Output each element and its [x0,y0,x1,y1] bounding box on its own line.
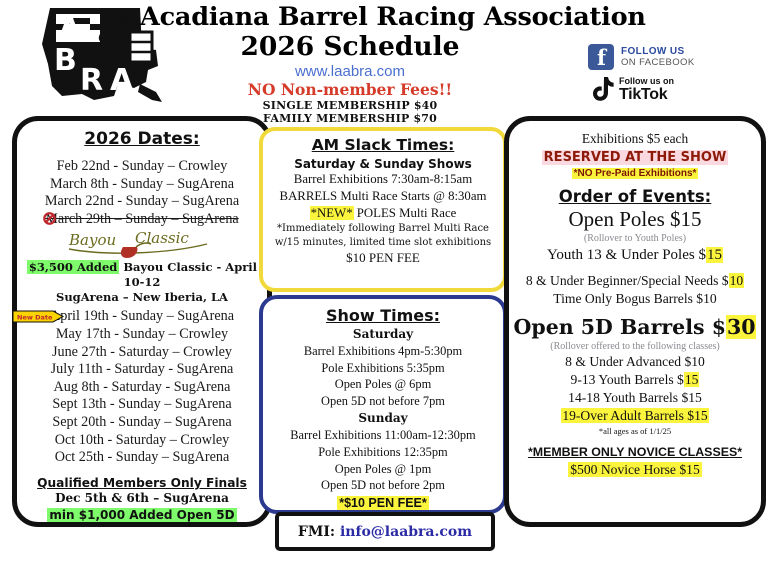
fmi-text: FMI: info@laabra.com [298,524,472,540]
bogus-barrels-row: Time Only Bogus Barrels $10 [509,290,761,308]
dates-list-early: Feb 22nd - Sunday – Crowley March 8th - … [17,158,267,228]
list-item-label: March 29th – Sunday – SugArena [45,211,238,227]
no-nonmember-fees: NO Non-member Fees!! [140,81,560,99]
youth-9-13-label: 9-13 Youth Barrels $ [571,372,684,387]
header: A B R A Acadiana [0,0,768,118]
finals-added-label: min $1,000 Added Open 5D [47,508,236,522]
new-date-arrow-badge: New Date [13,310,65,323]
am-slack-line-1: Barrel Exhibitions 7:30am-8:15am [263,171,503,188]
list-item: March 8th - Sunday – SugArena [17,176,267,194]
prohibited-icon [43,212,56,225]
schedule-title: 2026 Schedule [140,32,560,62]
youth-poles-label: Youth 13 & Under Poles $ [547,247,706,263]
open-5d-barrels-row: Open 5D Barrels $30 [509,314,761,340]
open-5d-note: (Rollover offered to the following class… [509,340,761,353]
dates-heading: 2026 Dates: [17,129,267,149]
website-url[interactable]: www.laabra.com [140,63,560,81]
list-item: Sept 13th - Sunday – SugArena [17,396,267,414]
beginner-label: 8 & Under Beginner/Special Needs $ [526,273,729,288]
facebook-icon [588,44,614,70]
youth-14-18-row: 14-18 Youth Barrels $15 [509,389,761,407]
list-item: Aug 8th - Saturday - SugArena [17,379,267,397]
list-item: Pole Exhibitions 12:35pm [263,444,503,461]
svg-text:Classic: Classic [135,230,189,247]
no-prepaid-exhibitions: *NO Pre-Paid Exhibitions* [509,167,761,181]
facebook-link[interactable]: FOLLOW US ON FACEBOOK [588,44,758,70]
flyer-page: A B R A Acadiana [0,0,768,574]
list-item: Pole Exhibitions 5:35pm [263,360,503,377]
open-5d-label: Open 5D Barrels $ [514,315,726,339]
am-slack-note-1: *Immediately following Barrel Multi Race [263,222,503,236]
tiktok-link[interactable]: Follow us on TikTok [588,75,758,103]
list-item: Open Poles @ 1pm [263,461,503,478]
list-item: May 17th - Sunday – Crowley [17,326,267,344]
exhibitions-price: Exhibitions $5 each [509,130,761,147]
order-of-events-heading: Order of Events: [509,187,761,206]
youth-poles-row: Youth 13 & Under Poles $15 [509,245,761,265]
list-item: Open 5D not before 7pm [263,393,503,410]
youth-9-13-price: 15 [684,372,700,387]
am-slack-note-2: w/15 minutes, limited time slot exhibiti… [263,236,503,250]
list-item: Sept 20th - Sunday – SugArena [17,414,267,432]
dates-panel: 2026 Dates: Feb 22nd - Sunday – Crowley … [12,116,272,527]
contact-email[interactable]: info@laabra.com [340,524,472,540]
bayou-classic-line: $3,500 Added Bayou Classic - April 10-12 [17,260,267,290]
novice-horse-label: $500 Novice Horse $15 [568,462,702,477]
facebook-label-1: FOLLOW US [621,46,695,57]
ages-note: *all ages as of 1/1/25 [509,425,761,437]
list-item: Oct 10th - Saturday – Crowley [17,432,267,450]
list-item: July 11th - Saturday - SugArena [17,361,267,379]
am-slack-pen-fee: $10 PEN FEE [263,250,503,266]
show-times-heading: Show Times: [263,306,503,325]
reserved-at-show: RESERVED AT THE SHOW [509,149,761,166]
beginner-row: 8 & Under Beginner/Special Needs $10 [509,272,761,290]
am-slack-heading: AM Slack Times: [263,136,503,154]
open-poles-price: Open Poles $15 [509,206,761,232]
tiktok-label-2: TikTok [619,86,674,103]
am-slack-panel: AM Slack Times: Saturday & Sunday Shows … [259,127,507,292]
am-slack-line-3: *NEW* POLES Multi Race [263,205,503,222]
tiktok-label-1: Follow us on [619,76,674,86]
finals-added: min $1,000 Added Open 5D [17,507,267,523]
list-item: June 27th - Saturday – Crowley [17,344,267,362]
am-slack-subheading: Saturday & Sunday Shows [263,157,503,171]
org-title: Acadiana Barrel Racing Association [140,2,560,32]
advanced-row: 8 & Under Advanced $10 [509,353,761,371]
list-item: Oct 25th - Sunday – SugArena [17,449,267,467]
social-links: FOLLOW US ON FACEBOOK Follow us on TikTo… [588,44,758,103]
bayou-classic-logo: Bayou Classic [17,230,267,260]
list-item: Feb 22nd - Sunday – Crowley [17,158,267,176]
adult-19-over-row: 19-Over Adult Barrels $15 [509,407,761,425]
list-item: Barrel Exhibitions 11:00am-12:30pm [263,427,503,444]
facebook-label-2: ON FACEBOOK [621,57,695,68]
list-item: Open 5D not before 2pm [263,477,503,494]
title-block: Acadiana Barrel Racing Association 2026 … [140,2,560,125]
svg-text:R: R [80,63,103,98]
new-tag: *NEW* [310,206,354,220]
list-item: March 22nd - Sunday – SugArena [17,193,267,211]
youth-9-13-row: 9-13 Youth Barrels $15 [509,371,761,389]
fmi-footer: FMI: info@laabra.com [275,512,495,551]
tiktok-icon [588,75,614,103]
show-times-panel: Show Times: Saturday Barrel Exhibitions … [259,295,507,514]
show-times-pen-fee-label: *$10 PEN FEE* [337,496,429,510]
fmi-label: FMI: [298,524,335,540]
am-slack-line-2: BARRELS Multi Race Starts @ 8:30am [263,188,503,205]
open-poles-note: (Rollover to Youth Poles) [509,232,761,245]
show-times-pen-fee: *$10 PEN FEE* [263,495,503,511]
single-membership: SINGLE MEMBERSHIP $40 [140,99,560,112]
saturday-label: Saturday [263,325,503,343]
bayou-event-label: Bayou Classic - April 10-12 [123,260,257,289]
list-item: Open Poles @ 6pm [263,376,503,393]
svg-text:B: B [54,43,77,78]
order-of-events-panel: Exhibitions $5 each RESERVED AT THE SHOW… [504,116,766,527]
finals-heading: Qualified Members Only Finals [17,476,267,490]
beginner-price: 10 [729,273,745,288]
svg-text:Bayou: Bayou [68,231,116,249]
novice-horse-row: $500 Novice Horse $15 [509,461,761,479]
no-prepaid-label: *NO Pre-Paid Exhibitions* [572,168,699,179]
bayou-location: SugArena – New Iberia, LA [17,290,267,305]
list-item-label: April 19th - Sunday – SugArena [50,308,234,324]
open-5d-price: 30 [726,315,757,339]
svg-text:A: A [110,63,134,98]
list-item-cancelled: March 29th – Sunday – SugArena [17,211,267,229]
dates-list-late: New Date April 19th - Sunday – SugArena … [17,308,267,466]
novice-classes-heading: *MEMBER ONLY NOVICE CLASSES* [509,444,761,461]
sunday-label: Sunday [263,409,503,427]
adult-19-over-label: 19-Over Adult Barrels $15 [561,408,708,423]
new-date-badge-label: New Date [17,314,53,322]
finals-dates: Dec 5th & 6th – SugArena [17,490,267,506]
bayou-added-amount: $3,500 Added [27,260,119,274]
list-item: Barrel Exhibitions 4pm-5:30pm [263,343,503,360]
list-item-new-date: New Date April 19th - Sunday – SugArena [17,308,267,326]
youth-poles-price: 15 [706,247,723,263]
poles-multi-race-label: POLES Multi Race [357,206,457,220]
reserved-at-show-label: RESERVED AT THE SHOW [542,150,729,165]
